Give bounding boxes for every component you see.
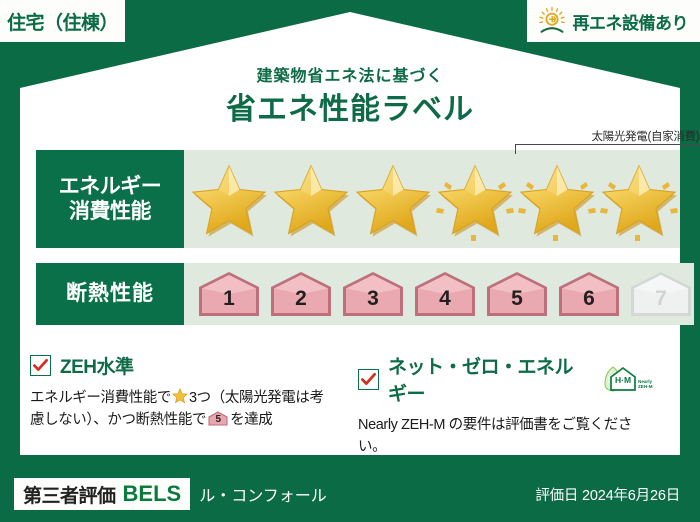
insulation-grade-badge: 2 — [268, 270, 334, 318]
building-type-tag: 住宅（住棟） — [0, 0, 125, 42]
insulation-grade-value: 4 — [439, 288, 451, 318]
energy-key-line-2: 消費性能 — [69, 199, 151, 224]
net-zero-energy-block: ネット・ゼロ・エネルギー H·M Nearly ZEH-M Nearly ZEH… — [350, 352, 670, 448]
insulation-grade-value: 6 — [583, 288, 595, 318]
insulation-grade-badge: 3 — [340, 270, 406, 318]
solar-annotation-bracket — [515, 144, 700, 154]
energy-performance-label: 住宅（住棟） 再エネ設備あり — [0, 0, 700, 522]
building-type-label: 住宅（住棟） — [7, 8, 118, 35]
zeh-standard-header: ZEH水準 — [30, 352, 336, 379]
energy-performance-stars: 太陽光発電(自家消費)分 — [184, 150, 680, 248]
building-name: ル・コンフォール — [199, 482, 327, 506]
energy-performance-key: エネルギー 消費性能 — [36, 150, 184, 248]
zeh-desc-part-3: を達成 — [230, 412, 272, 428]
star-icon — [172, 388, 188, 404]
insulation-grade-value: 5 — [511, 288, 523, 318]
sun-solar-icon — [537, 6, 567, 36]
net-zero-energy-title: ネット・ゼロ・エネルギー — [388, 352, 589, 406]
page-title: 省エネ性能ラベル — [0, 84, 700, 128]
insulation-key-label: 断熱性能 — [66, 281, 154, 306]
nearly-zeh-m-logo: H·M Nearly ZEH-M — [602, 364, 656, 394]
net-zero-energy-header: ネット・ゼロ・エネルギー H·M Nearly ZEH-M — [358, 352, 656, 406]
svg-text:H·M: H·M — [615, 375, 631, 385]
star-icon — [188, 156, 270, 242]
star-icon — [352, 156, 434, 242]
insulation-grade-value: 2 — [295, 288, 307, 318]
energy-key-line-1: エネルギー — [59, 174, 162, 199]
insulation-performance-row: 断熱性能 1234567 — [36, 263, 664, 325]
inline-badge-value: 5 — [208, 411, 228, 426]
footer-bar: 第三者評価 BELS ル・コンフォール 評価日 2024年6月26日 — [0, 466, 700, 522]
insulation-grade-inline-badge: 5 — [208, 411, 228, 426]
zeh-standard-description: エネルギー消費性能で3つ（太陽光発電は考慮しない）、かつ断熱性能で5を達成 — [30, 387, 336, 432]
criteria-section: ZEH水準 エネルギー消費性能で3つ（太陽光発電は考慮しない）、かつ断熱性能で5… — [30, 352, 670, 448]
insulation-grade-badge: 6 — [556, 270, 622, 318]
insulation-grade-badges: 1234567 — [184, 263, 694, 325]
insulation-grade-badge: 5 — [484, 270, 550, 318]
renewable-equipment-badge: 再エネ設備あり — [527, 0, 700, 42]
insulation-grade-badge: 7 — [628, 270, 694, 318]
bels-mark-label: BELS — [123, 481, 182, 507]
check-icon — [30, 355, 51, 376]
star-icon-solar — [516, 156, 598, 242]
evaluation-date: 評価日 2024年6月26日 — [535, 484, 680, 505]
net-zero-energy-description: Nearly ZEH-M の要件は評価書をご覧ください。 — [358, 414, 656, 459]
star-icon — [270, 156, 352, 242]
svg-text:ZEH-M: ZEH-M — [638, 384, 653, 389]
insulation-grade-value: 1 — [223, 288, 235, 318]
zeh-standard-title: ZEH水準 — [60, 352, 134, 379]
label-subtitle: 建築物省エネ法に基づく — [0, 62, 700, 86]
bels-certification-mark: 第三者評価 BELS — [14, 478, 190, 510]
solar-annotation-label: 太陽光発電(自家消費)分 — [513, 128, 700, 144]
zeh-desc-part-1: エネルギー消費性能で — [30, 390, 171, 406]
star-icon-solar — [598, 156, 680, 242]
insulation-grade-value: 3 — [367, 288, 379, 318]
insulation-grade-badge: 4 — [412, 270, 478, 318]
bels-prefix-label: 第三者評価 — [23, 481, 116, 508]
insulation-grade-badge: 1 — [196, 270, 262, 318]
check-icon — [358, 369, 379, 390]
star-icon-solar — [434, 156, 516, 242]
zeh-standard-block: ZEH水準 エネルギー消費性能で3つ（太陽光発電は考慮しない）、かつ断熱性能で5… — [30, 352, 350, 448]
energy-performance-row: エネルギー 消費性能 太陽光発電(自家消費)分 — [36, 150, 664, 248]
insulation-performance-key: 断熱性能 — [36, 263, 184, 325]
renewable-badge-label: 再エネ設備あり — [573, 9, 689, 34]
insulation-grade-value: 7 — [655, 288, 667, 318]
